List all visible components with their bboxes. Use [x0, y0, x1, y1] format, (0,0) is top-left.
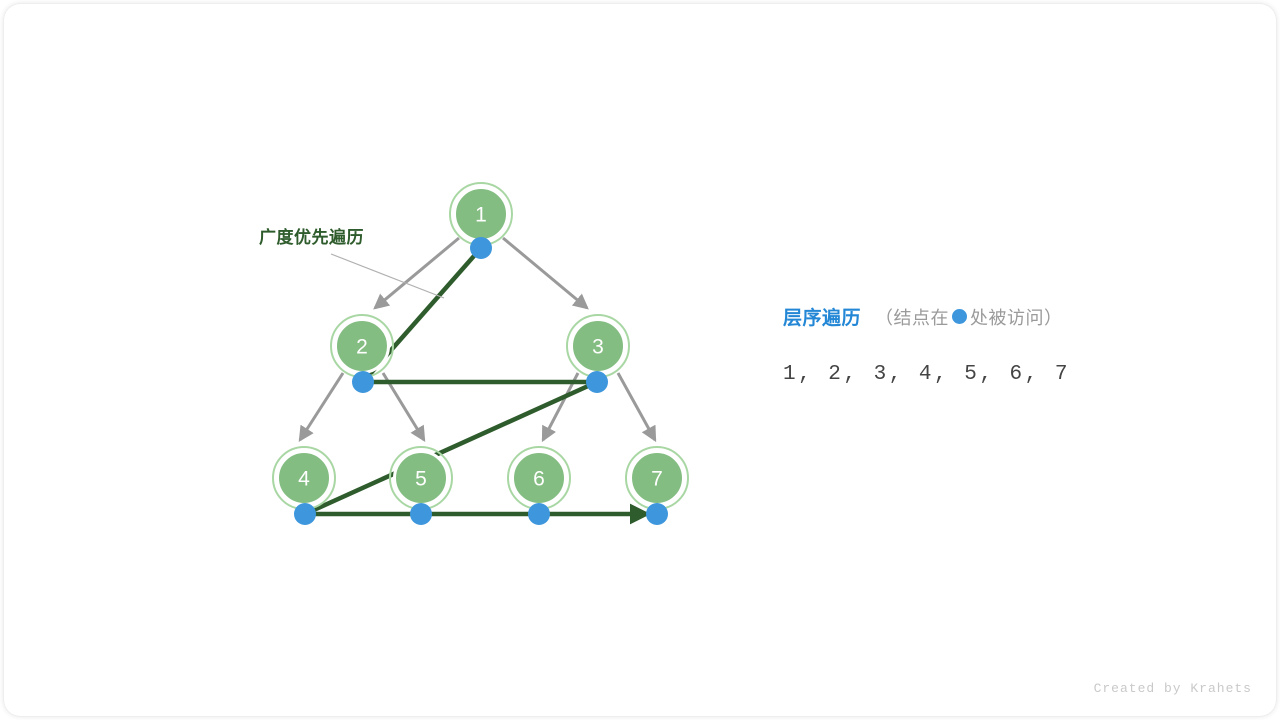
tree-edge-3-7 [618, 373, 655, 440]
diagram-page: 1 2 3 4 5 [0, 0, 1280, 720]
legend-note-prefix: （结点在 [875, 304, 949, 330]
tree-diagram-canvas: 1 2 3 4 5 [0, 0, 1280, 720]
annotation-leader-line [331, 254, 444, 298]
legend-note: （结点在 处被访问） [875, 304, 1063, 330]
visit-dot-icon-1 [470, 237, 492, 259]
visit-dot-icon-6 [528, 503, 550, 525]
node-1-label: 1 [475, 204, 487, 227]
visit-dot-icon-4 [294, 503, 316, 525]
node-4-label: 4 [298, 468, 310, 491]
node-6-label: 6 [533, 468, 545, 491]
tree-node-7[interactable]: 7 [626, 447, 688, 509]
bfs-annotation-label: 广度优先遍历 [259, 223, 364, 248]
traversal-sequence: 1, 2, 3, 4, 5, 6, 7 [783, 363, 1070, 386]
tree-node-2[interactable]: 2 [331, 315, 393, 377]
legend-title: 层序遍历 [783, 303, 861, 330]
tree-node-3[interactable]: 3 [567, 315, 629, 377]
visit-dot-icon-7 [646, 503, 668, 525]
tree-node-1[interactable]: 1 [450, 183, 512, 245]
node-5-label: 5 [415, 468, 427, 491]
tree-node-4[interactable]: 4 [273, 447, 335, 509]
legend-note-suffix: 处被访问） [970, 304, 1063, 330]
legend-row: 层序遍历 （结点在 处被访问） [783, 303, 1063, 330]
node-2-label: 2 [356, 336, 368, 359]
node-7-label: 7 [651, 468, 663, 491]
node-3-label: 3 [592, 336, 604, 359]
visit-dot-icon-5 [410, 503, 432, 525]
tree-edge-1-2 [375, 238, 459, 308]
visit-dot-icon-2 [352, 371, 374, 393]
tree-edge-2-4 [300, 373, 343, 440]
tree-node-5[interactable]: 5 [390, 447, 452, 509]
tree-edge-1-3 [503, 238, 587, 308]
visit-dot-icon-3 [586, 371, 608, 393]
tree-node-6[interactable]: 6 [508, 447, 570, 509]
watermark-credit: Created by Krahets [1094, 681, 1252, 696]
visit-dot-icon [952, 309, 967, 324]
